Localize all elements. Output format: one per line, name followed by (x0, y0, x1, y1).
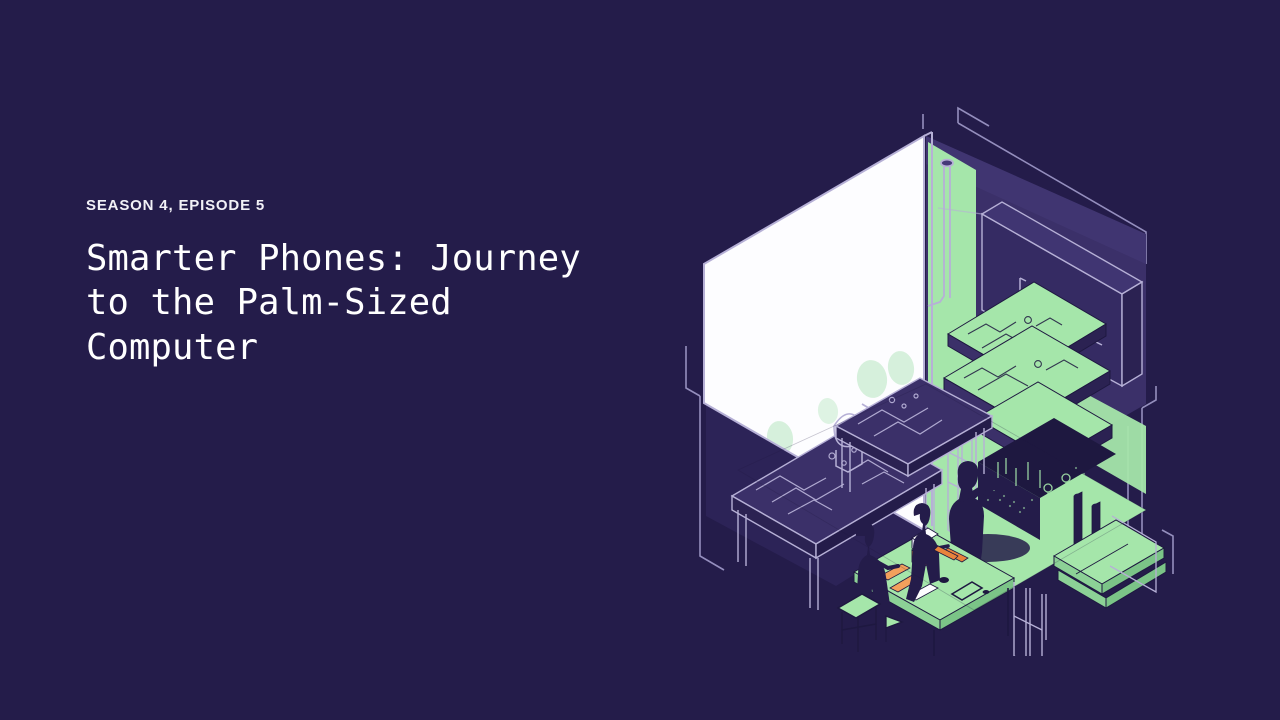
floor-sign (886, 616, 902, 642)
title-card-canvas: SEASON 4, EPISODE 5 Smarter Phones: Jour… (0, 0, 1280, 720)
workshop-illustration (676, 96, 1196, 656)
episode-text-block: SEASON 4, EPISODE 5 Smarter Phones: Jour… (86, 198, 666, 371)
leaning-panels (1014, 582, 1046, 656)
season-episode-eyebrow: SEASON 4, EPISODE 5 (86, 198, 666, 215)
episode-title: Smarter Phones: Journey to the Palm-Size… (86, 237, 666, 371)
